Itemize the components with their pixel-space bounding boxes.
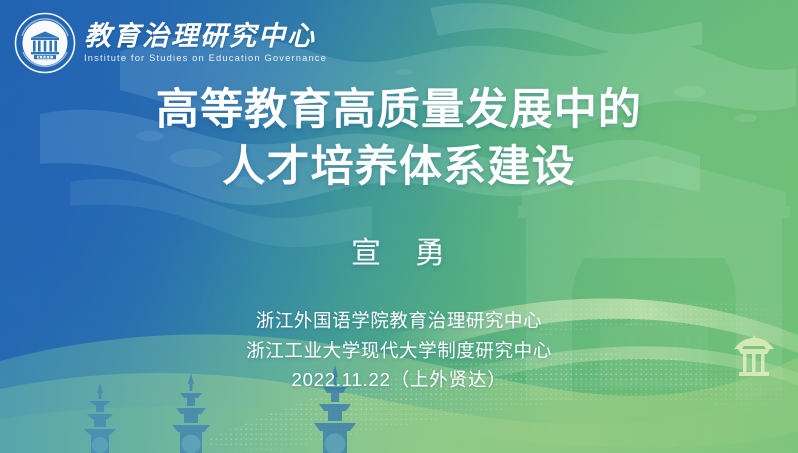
affiliation-line-1: 浙江外国语学院教育治理研究中心 xyxy=(0,306,798,336)
slide-title: 高等教育高质量发展中的 人才培养体系建设 xyxy=(0,82,798,196)
institute-seal-icon xyxy=(14,12,76,74)
institute-logo-text: 教育治理研究中心 Institute for Studies on Educat… xyxy=(84,23,327,63)
slide-title-line-1: 高等教育高质量发展中的 xyxy=(0,82,798,139)
institute-name-en: Institute for Studies on Education Gover… xyxy=(84,52,327,63)
institute-name-cn: 教育治理研究中心 xyxy=(84,23,327,51)
pagoda-tower-icon xyxy=(82,383,118,453)
date-venue: 2022.11.22（上外贤达） xyxy=(0,366,798,392)
institute-logo: 教育治理研究中心 Institute for Studies on Educat… xyxy=(14,12,327,74)
affiliation-block: 浙江外国语学院教育治理研究中心 浙江工业大学现代大学制度研究中心 xyxy=(0,306,798,366)
affiliation-line-2: 浙江工业大学现代大学制度研究中心 xyxy=(0,336,798,366)
slide-title-line-2: 人才培养体系建设 xyxy=(0,139,798,196)
title-slide: 教育治理研究中心 Institute for Studies on Educat… xyxy=(0,0,798,453)
author-name: 宣 勇 xyxy=(0,228,798,272)
